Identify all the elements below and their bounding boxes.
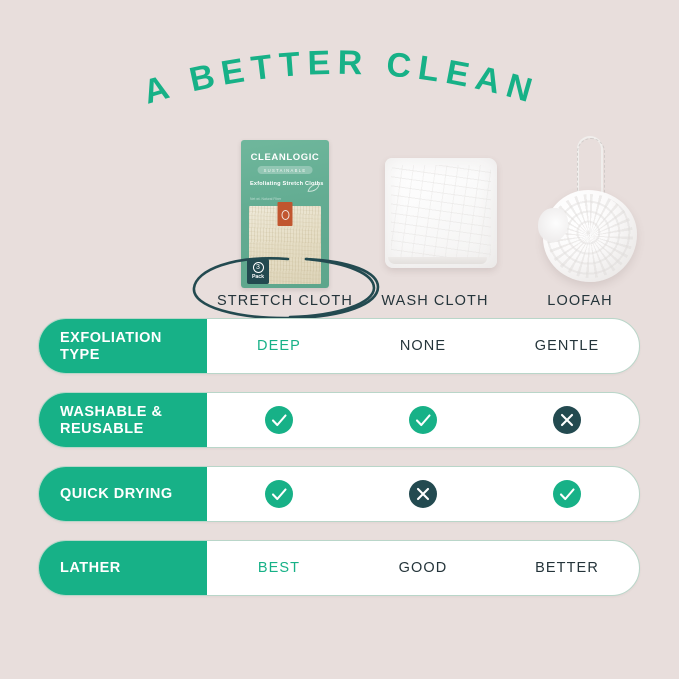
table-row: EXFOLIATION TYPE DEEP NONE GENTLE bbox=[38, 318, 640, 374]
cell-stretch-cloth: DEEP bbox=[207, 319, 351, 373]
cross-icon bbox=[553, 406, 581, 434]
table-row: LATHER BEST GOOD BETTER bbox=[38, 540, 640, 596]
cell-loofah bbox=[495, 467, 639, 521]
leaf-icon bbox=[307, 182, 320, 193]
product-image-wash-cloth bbox=[385, 158, 497, 268]
row-label-text: QUICK DRYING bbox=[60, 486, 173, 503]
table-row: WASHABLE & REUSABLE bbox=[38, 392, 640, 448]
row-cells: BEST GOOD BETTER bbox=[207, 541, 639, 595]
loofah-pouf bbox=[543, 190, 637, 282]
package-hang-tab bbox=[278, 202, 293, 226]
cell-loofah: BETTER bbox=[495, 541, 639, 595]
row-cells bbox=[207, 467, 639, 521]
folded-washcloth-shape bbox=[385, 158, 497, 268]
check-icon bbox=[265, 480, 293, 508]
check-icon bbox=[553, 480, 581, 508]
cell-stretch-cloth bbox=[207, 393, 351, 447]
column-header-loofah: LOOFAH bbox=[490, 293, 670, 315]
table-row: QUICK DRYING bbox=[38, 466, 640, 522]
package-fine-print: Net wt. Natural Fiber bbox=[250, 197, 281, 202]
cell-wash-cloth: GOOD bbox=[351, 541, 495, 595]
cell-stretch-cloth: BEST bbox=[207, 541, 351, 595]
handdrawn-highlight-circle bbox=[186, 250, 386, 322]
row-cells bbox=[207, 393, 639, 447]
cell-wash-cloth bbox=[351, 467, 495, 521]
row-label-text: LATHER bbox=[60, 560, 121, 577]
row-cells: DEEP NONE GENTLE bbox=[207, 319, 639, 373]
package-brand: CLEANLOGIC bbox=[241, 152, 329, 163]
package-brand-text: CLEANLOGIC bbox=[251, 152, 320, 163]
cell-stretch-cloth bbox=[207, 467, 351, 521]
page-title: A BETTER CLEAN bbox=[0, 30, 679, 110]
row-label-text: EXFOLIATION TYPE bbox=[60, 330, 162, 364]
package-tagline: SUSTAINABLE bbox=[258, 166, 313, 174]
row-label-quick-drying: QUICK DRYING bbox=[38, 466, 207, 522]
page-title-text: A BETTER CLEAN bbox=[139, 44, 543, 112]
row-label-text: WASHABLE & REUSABLE bbox=[60, 404, 162, 438]
cell-loofah: GENTLE bbox=[495, 319, 639, 373]
cell-loofah bbox=[495, 393, 639, 447]
cell-wash-cloth bbox=[351, 393, 495, 447]
row-label-lather: LATHER bbox=[38, 540, 207, 596]
check-icon bbox=[409, 406, 437, 434]
cross-icon bbox=[409, 480, 437, 508]
loofah-cord bbox=[577, 136, 603, 198]
infographic-canvas: A BETTER CLEAN CLEANLOGIC SUSTAINABLE Ex… bbox=[0, 0, 679, 679]
product-image-loofah bbox=[534, 132, 646, 288]
row-label-washable-reusable: WASHABLE & REUSABLE bbox=[38, 392, 207, 448]
row-label-exfoliation-type: EXFOLIATION TYPE bbox=[38, 318, 207, 374]
check-icon bbox=[265, 406, 293, 434]
cell-wash-cloth: NONE bbox=[351, 319, 495, 373]
